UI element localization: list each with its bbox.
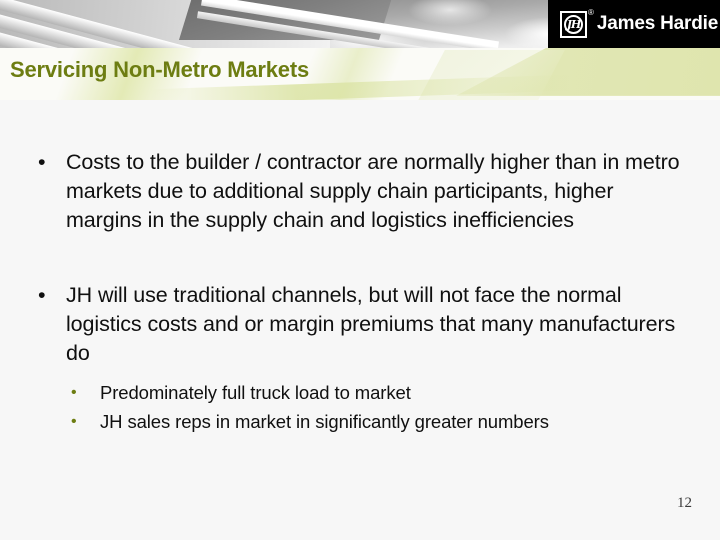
slide-body: • Costs to the builder / contractor are … [0,100,720,540]
sub-bullet-text: Predominately full truck load to market [100,382,411,403]
page-number: 12 [677,495,692,512]
bullet-text: JH will use traditional channels, but wi… [66,283,675,365]
bullet-marker-icon: • [38,148,45,177]
bullet-marker-icon: • [38,281,45,310]
bullet-item: • Costs to the builder / contractor are … [32,148,680,235]
sub-bullet-list: • Predominately full truck load to marke… [66,378,680,436]
jh-monogram-icon: JH [560,11,587,38]
sub-bullet-marker-icon: • [71,378,77,407]
presentation-slide: JH ® James Hardie Servicing Non-Metro Ma… [0,0,720,540]
brand-name: James Hardie [597,13,718,35]
monogram-letters: JH [562,13,585,36]
page-title: Servicing Non-Metro Markets [10,57,309,83]
james-hardie-logo: JH ® James Hardie [548,0,720,48]
bullet-text: Costs to the builder / contractor are no… [66,150,680,232]
bullet-item: • JH will use traditional channels, but … [32,281,680,436]
sub-bullet-item: • Predominately full truck load to marke… [66,378,680,407]
sub-bullet-marker-icon: • [71,407,77,436]
sub-bullet-text: JH sales reps in market in significantly… [100,411,549,432]
sub-bullet-item: • JH sales reps in market in significant… [66,407,680,436]
registered-trademark-icon: ® [588,9,594,17]
title-banner: Servicing Non-Metro Markets [0,48,720,100]
